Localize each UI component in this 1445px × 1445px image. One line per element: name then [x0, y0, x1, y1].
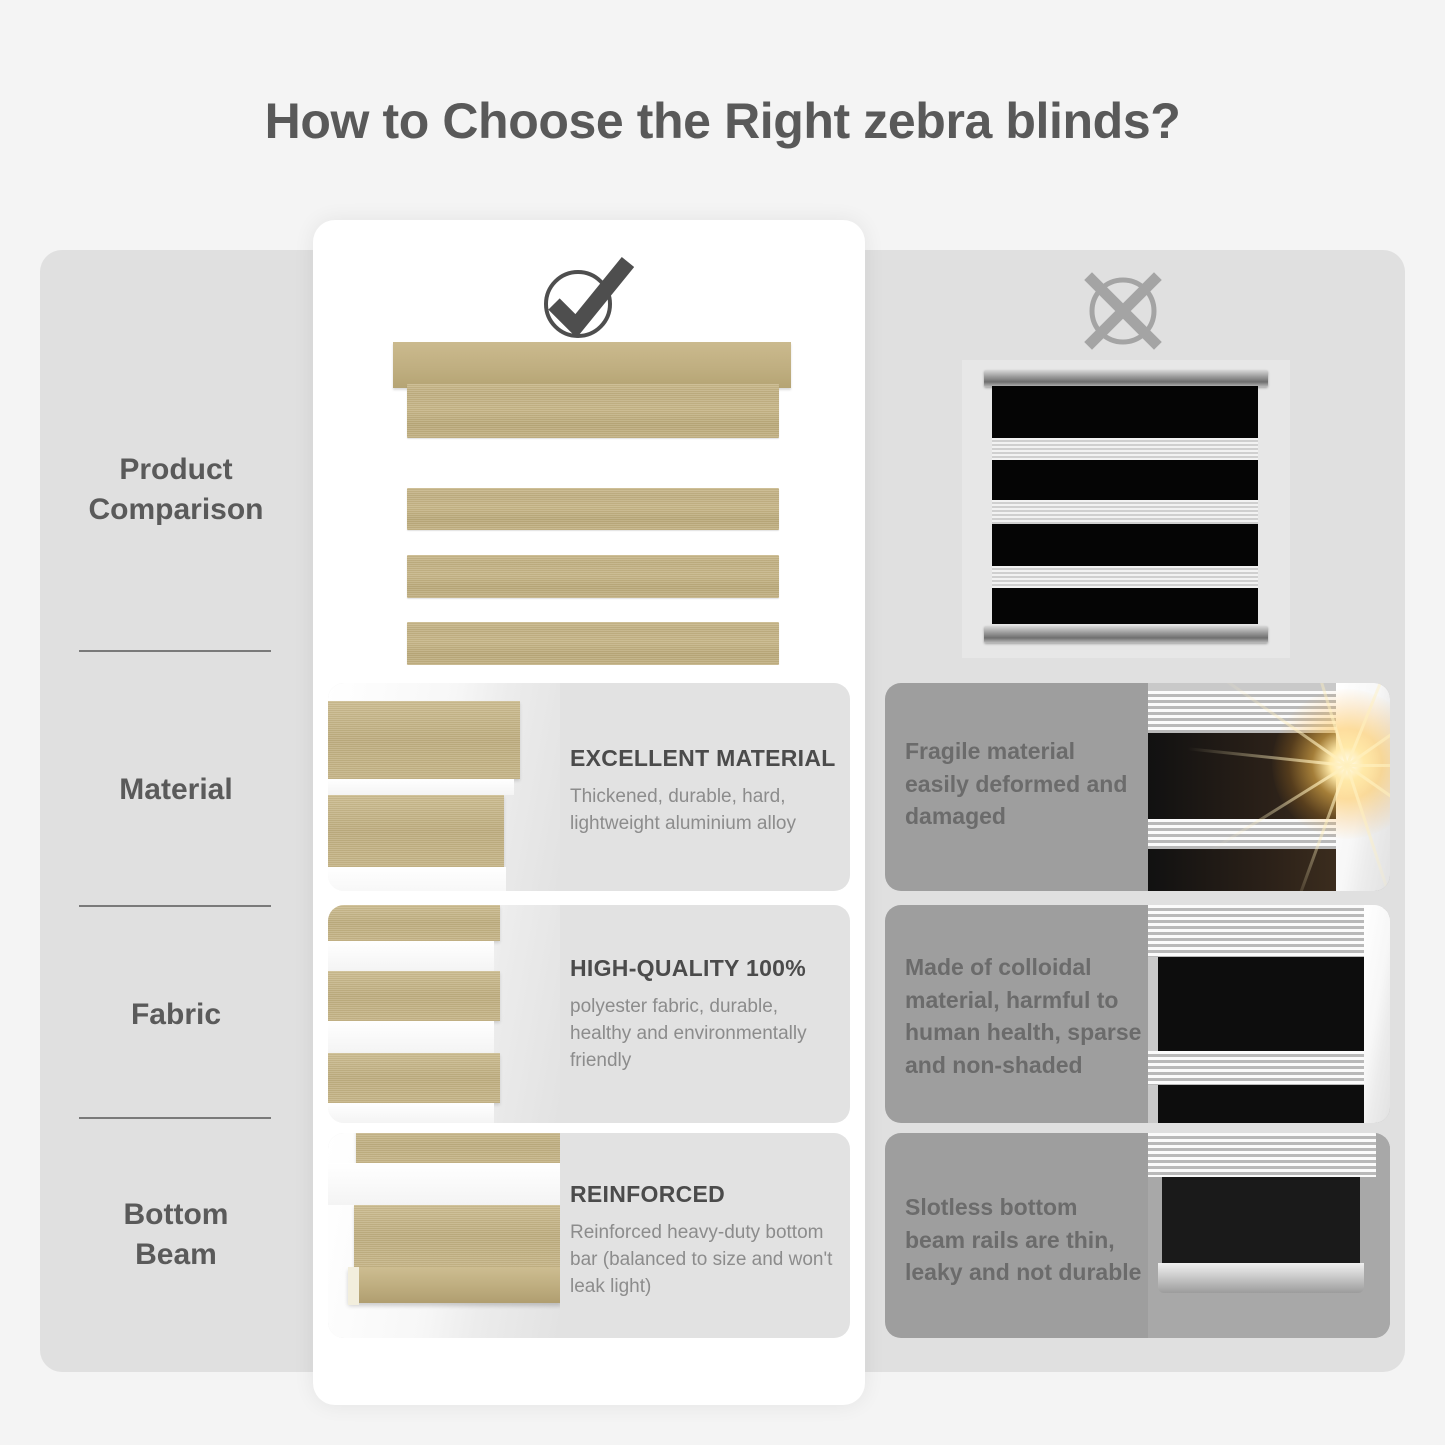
- blind-slats: [1148, 905, 1390, 957]
- card-image-bad-fabric: [1148, 905, 1390, 1123]
- card-text-bad-fabric: Made of colloidal material, harmful to h…: [905, 951, 1145, 1082]
- blind-sheer-gap: [328, 867, 506, 891]
- card-body: Made of colloidal material, harmful to h…: [905, 951, 1145, 1082]
- blind-sheer-gap: [328, 1103, 494, 1123]
- card-text-good-bottom-beam: REINFORCED Reinforced heavy-duty bottom …: [570, 1181, 848, 1301]
- window-glass: [1148, 849, 1340, 891]
- row-divider-3: [79, 1117, 271, 1119]
- blind-slat: [328, 1053, 500, 1103]
- blind-slat: [328, 905, 500, 941]
- card-text-good-fabric: HIGH-QUALITY 100% polyester fabric, dura…: [570, 955, 842, 1075]
- slotless-bottom-rail: [1158, 1263, 1364, 1293]
- card-image-bad-bottom-beam: [1148, 1133, 1390, 1338]
- blind-slat: [992, 460, 1258, 500]
- hero-image-bad-blind: [962, 360, 1290, 658]
- window-glass: [1158, 957, 1368, 1051]
- card-image-good-fabric: [328, 905, 560, 1123]
- row-label-text: ProductComparison: [88, 450, 263, 529]
- blind-slat: [992, 566, 1258, 588]
- reinforced-bottom-bar: [348, 1267, 560, 1303]
- blind-slat: [407, 488, 779, 530]
- card-text-bad-bottom-beam: Slotless bottom beam rails are thin, lea…: [905, 1191, 1143, 1289]
- row-label-text: BottomBeam: [124, 1195, 229, 1274]
- card-image-good-material: [328, 683, 560, 891]
- infographic-root: How to Choose the Right zebra blinds? Pr…: [0, 0, 1445, 1445]
- blind-slats: [1148, 1051, 1390, 1085]
- window-glass: [1162, 1177, 1360, 1263]
- blind-sheer-gap: [328, 941, 494, 971]
- blind-slat: [407, 622, 779, 665]
- card-image-bad-material: [1148, 683, 1390, 891]
- card-heading: HIGH-QUALITY 100%: [570, 955, 842, 982]
- blind-slat: [354, 1205, 560, 1267]
- card-good-material: EXCELLENT MATERIAL Thickened, durable, h…: [328, 683, 850, 891]
- row-label-column: ProductComparison Material Fabric Bottom…: [42, 250, 310, 1372]
- blind-slat: [992, 386, 1258, 438]
- card-good-fabric: HIGH-QUALITY 100% polyester fabric, dura…: [328, 905, 850, 1123]
- row-label-product-comparison: ProductComparison: [42, 430, 310, 550]
- window-glass: [1158, 1085, 1364, 1123]
- card-bad-material: Fragile material easily deformed and dam…: [885, 683, 1390, 891]
- blind-slat: [992, 588, 1258, 624]
- card-bad-fabric: Made of colloidal material, harmful to h…: [885, 905, 1390, 1123]
- row-divider-1: [79, 650, 271, 652]
- row-label-material: Material: [42, 755, 310, 825]
- row-label-text: Fabric: [131, 995, 221, 1035]
- window-frame-edge: [1364, 905, 1390, 1123]
- blind-slat: [356, 1133, 560, 1163]
- row-label-bottom-beam: BottomBeam: [42, 1175, 310, 1295]
- card-heading: REINFORCED: [570, 1181, 848, 1208]
- bottom-bar-endcap: [348, 1267, 359, 1305]
- row-label-text: Material: [119, 770, 232, 810]
- blind-slats: [1148, 1133, 1376, 1177]
- card-body: Slotless bottom beam rails are thin, lea…: [905, 1191, 1143, 1289]
- card-body: Thickened, durable, hard, lightweight al…: [570, 784, 838, 838]
- blind-slat: [407, 555, 779, 598]
- card-body: polyester fabric, durable, healthy and e…: [570, 994, 842, 1075]
- page-title: How to Choose the Right zebra blinds?: [0, 92, 1445, 150]
- blind-sheer-gap: [328, 779, 514, 795]
- card-text-good-material: EXCELLENT MATERIAL Thickened, durable, h…: [570, 745, 838, 838]
- blind-slat: [992, 438, 1258, 460]
- card-text-bad-material: Fragile material easily deformed and dam…: [905, 735, 1135, 833]
- row-label-fabric: Fabric: [42, 980, 310, 1050]
- card-body: Reinforced heavy-duty bottom bar (balanc…: [570, 1220, 848, 1301]
- card-body: Fragile material easily deformed and dam…: [905, 735, 1135, 833]
- blind-slat: [407, 384, 779, 438]
- card-heading: EXCELLENT MATERIAL: [570, 745, 838, 772]
- check-circle-icon: [538, 256, 634, 342]
- card-image-good-bottom-beam: [328, 1133, 560, 1338]
- blind-sheer-gap: [328, 1021, 494, 1053]
- hero-image-good-blind: [385, 340, 793, 665]
- card-bad-bottom-beam: Slotless bottom beam rails are thin, lea…: [885, 1133, 1390, 1338]
- headrail: [393, 342, 791, 388]
- headrail: [984, 370, 1268, 387]
- bottom-rail: [984, 626, 1268, 643]
- blind-slat: [328, 795, 504, 867]
- blind-sheer-gap: [328, 1163, 560, 1205]
- blind-slat: [992, 500, 1258, 524]
- blind-slat: [992, 524, 1258, 566]
- blind-slat: [328, 701, 520, 779]
- cross-circle-icon: [1078, 270, 1168, 352]
- row-divider-2: [79, 905, 271, 907]
- blind-slat: [328, 971, 500, 1021]
- card-good-bottom-beam: REINFORCED Reinforced heavy-duty bottom …: [328, 1133, 850, 1338]
